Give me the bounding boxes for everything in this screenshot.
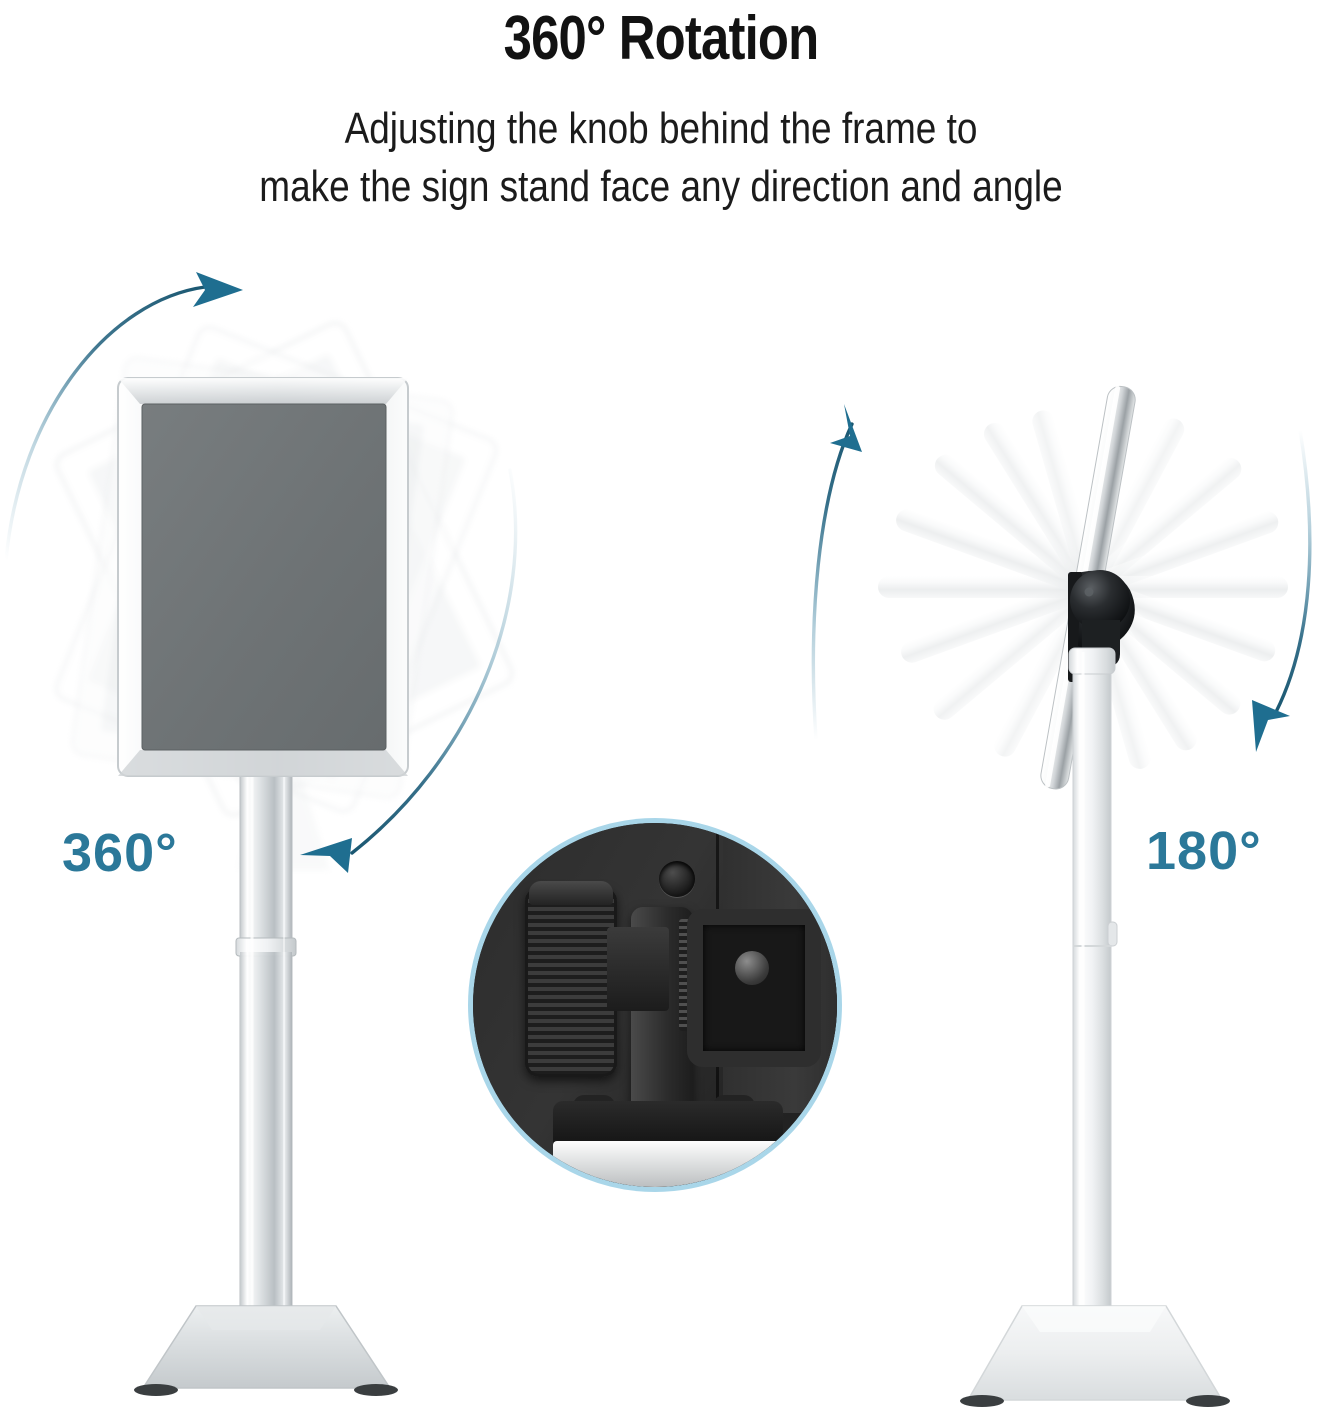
inset-knob-top [529,881,613,905]
inset-clamp [687,909,821,1067]
right-illustration-group [813,384,1309,1407]
knob-closeup-inset [468,818,842,1192]
inset-silver-bar [553,1141,783,1192]
adjustment-knob-icon [525,887,617,1077]
right-base [960,1306,1230,1407]
rotation-arrow-top [193,272,243,307]
label-180-degrees: 180° [1146,820,1262,882]
inset-knob-shaft [607,927,669,1011]
left-base [134,1306,398,1396]
tilt-arrow-up [830,404,862,452]
product-illustration [0,0,1322,1408]
tilt-arrow-down [1252,700,1290,752]
inset-screw-hole [659,861,695,897]
right-pole [1069,648,1117,1310]
label-360-degrees: 360° [62,822,178,884]
left-pole [236,760,296,1320]
infographic-canvas: 360° Rotation Adjusting the knob behind … [0,0,1322,1408]
inset-pivot-screw [735,951,769,985]
left-sign-frame [118,378,408,776]
